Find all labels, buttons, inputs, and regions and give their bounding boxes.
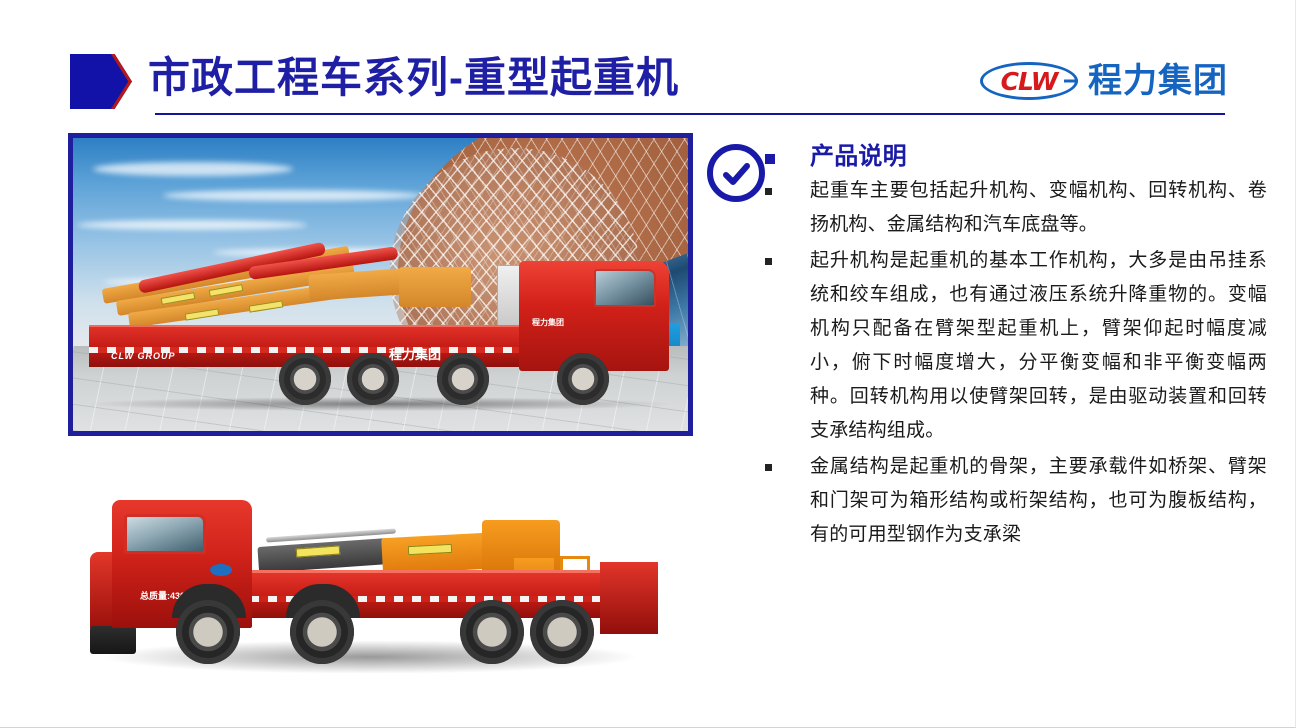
logo-brand-text: 程力集团 [1088,64,1228,98]
logo-mark-text: CLW [1001,69,1058,94]
page-title: 市政工程车系列-重型起重机 [148,52,679,104]
truck-wheel [290,600,354,664]
truck-brand-badge [210,564,232,576]
truck-wheel [557,353,609,405]
bullet-marker [765,258,772,265]
clw-oval-icon: CLW [980,62,1078,100]
truck-wheel [530,600,594,664]
check-circle-icon [707,144,765,202]
truck-cab-window [124,514,206,554]
bullet-marker [765,188,772,195]
photo-truck-top: 程力集团 CLW GROUP 程力集团 [89,230,674,405]
truck-wheel [460,600,524,664]
truck-wheel [347,353,399,405]
list-item: 起重车主要包括起升机构、变幅机构、回转机构、卷扬机构、金属结构和汽车底盘等。 [765,174,1267,242]
crane-column [399,267,471,307]
slide-header: 市政工程车系列-重型起重机 CLW 程力集团 [0,0,1296,128]
truck-wheel [279,353,331,405]
section-heading: 产品说明 [810,142,1267,172]
truck-wheel [437,353,489,405]
photo-cloud [93,162,293,176]
truck-cab-window [594,269,656,307]
truck-tail-section [600,562,658,634]
list-item: 起升机构是起重机的基本工作机构，大多是由吊挂系统和绞车组成，也有通过液压系统升降… [765,244,1267,448]
bullet-marker [765,464,772,471]
header-divider [155,113,1225,115]
product-photo-top: 程力集团 CLW GROUP 程力集团 [68,133,693,436]
truck-body-label: 程力集团 [389,344,441,363]
brand-logo: CLW 程力集团 [980,62,1228,100]
chevron-right-icon [70,54,132,109]
product-photo-top-scene: 程力集团 CLW GROUP 程力集团 [73,138,688,431]
photo-cloud [163,190,423,201]
slide-root: 市政工程车系列-重型起重机 CLW 程力集团 [0,0,1296,728]
truck-deck-label: CLW GROUP [111,351,176,361]
bullet-list: 产品说明 起重车主要包括起升机构、变幅机构、回转机构、卷扬机构、金属结构和汽车底… [765,142,1267,554]
product-photo-bottom: 总质量:43000kg [90,440,670,680]
truck-cab-logo: 程力集团 [532,318,564,327]
truck-wheel [176,600,240,664]
bullet-paragraph: 金属结构是起重机的骨架，主要承载件如桥架、臂架和门架可为箱形结构或桁架结构，也可… [810,450,1267,552]
bullet-marker [765,154,775,164]
list-item: 产品说明 [765,142,1267,172]
bullet-paragraph: 起重车主要包括起升机构、变幅机构、回转机构、卷扬机构、金属结构和汽车底盘等。 [810,174,1267,242]
photo-cloud [77,220,307,230]
list-item: 金属结构是起重机的骨架，主要承载件如桥架、臂架和门架可为箱形结构或桁架结构，也可… [765,450,1267,552]
truck-bumper [90,626,136,654]
bullet-paragraph: 起升机构是起重机的基本工作机构，大多是由吊挂系统和绞车组成，也有通过液压系统升降… [810,244,1267,448]
